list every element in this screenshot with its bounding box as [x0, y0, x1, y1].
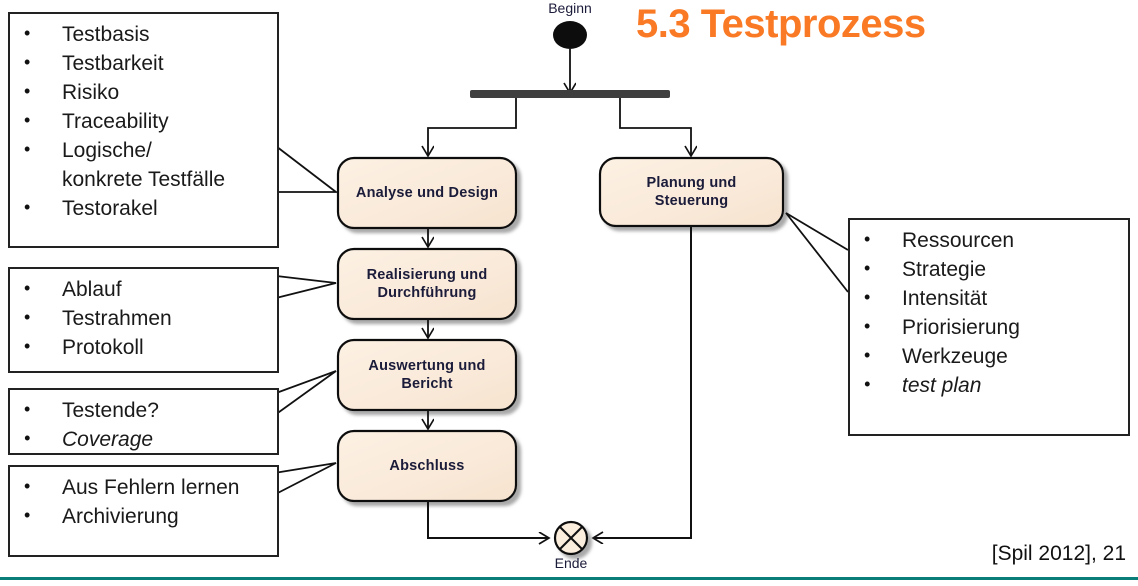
list-item: Risiko	[10, 78, 277, 107]
list-item: konkrete Testfälle	[10, 165, 277, 194]
list-item: Ressourcen	[850, 226, 1128, 255]
list-item: Priorisierung	[850, 313, 1128, 342]
list-item: Intensität	[850, 284, 1128, 313]
list-item: Testende?	[10, 396, 277, 425]
list-item: test plan	[850, 371, 1128, 400]
edge-planung-to-ende	[594, 226, 691, 538]
list-item: Werkzeuge	[850, 342, 1128, 371]
edge-fork-to-planung	[620, 98, 691, 155]
list-item: Testorakel	[10, 194, 277, 223]
note-list-analyse: Testbasis Testbarkeit Risiko Traceabilit…	[10, 20, 277, 223]
fork-bar	[470, 90, 670, 98]
list-item: Testbasis	[10, 20, 277, 49]
list-item: Protokoll	[10, 333, 277, 362]
note-list-auswertung: Testende? Coverage	[10, 396, 277, 454]
note-list-abschluss: Aus Fehlern lernen Archivierung	[10, 473, 277, 531]
source-citation: [Spil 2012], 21	[992, 542, 1126, 566]
list-item: Testbarkeit	[10, 49, 277, 78]
activity-node-analyse	[338, 158, 516, 228]
callout-tail-planung	[786, 213, 848, 292]
activity-node-auswertung	[338, 340, 516, 410]
note-box-planung: Ressourcen Strategie Intensität Priorisi…	[848, 218, 1130, 436]
edge-abschluss-to-ende	[428, 501, 548, 538]
activity-node-planung	[600, 158, 783, 226]
slide-canvas: 5.3 Testprozess	[0, 0, 1138, 586]
list-item: Ablauf	[10, 275, 277, 304]
list-item: Aus Fehlern lernen	[10, 473, 277, 502]
start-node	[553, 21, 587, 49]
start-node-label: Beginn	[530, 0, 610, 16]
list-item: Logische/	[10, 136, 277, 165]
note-box-auswertung: Testende? Coverage	[8, 388, 279, 455]
list-item: Traceability	[10, 107, 277, 136]
list-item: Archivierung	[10, 502, 277, 531]
end-node-label: Ende	[531, 555, 611, 571]
activity-node-realisierung	[338, 249, 516, 319]
list-item: Strategie	[850, 255, 1128, 284]
note-box-abschluss: Aus Fehlern lernen Archivierung	[8, 465, 279, 557]
note-list-realisierung: Ablauf Testrahmen Protokoll	[10, 275, 277, 362]
footer-accent-rule	[0, 577, 1138, 580]
edge-fork-to-analyse	[428, 98, 516, 155]
note-list-planung: Ressourcen Strategie Intensität Priorisi…	[850, 226, 1128, 400]
list-item: Coverage	[10, 425, 277, 454]
note-box-realisierung: Ablauf Testrahmen Protokoll	[8, 267, 279, 373]
activity-node-abschluss	[338, 431, 516, 501]
note-box-analyse: Testbasis Testbarkeit Risiko Traceabilit…	[8, 12, 279, 248]
list-item: Testrahmen	[10, 304, 277, 333]
